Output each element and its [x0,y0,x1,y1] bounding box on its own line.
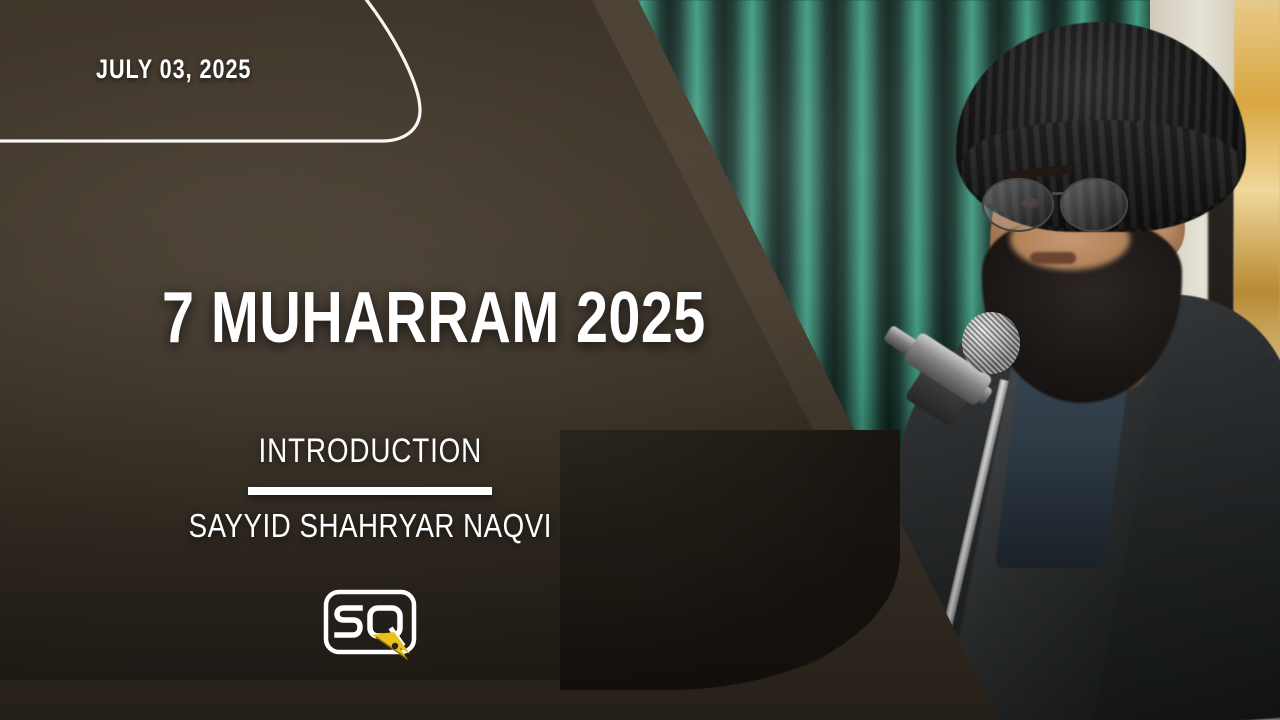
speaker-name: SAYYID SHAHRYAR NAQVI [188,507,551,545]
speaker-row: SAYYID SHAHRYAR NAQVI [0,507,740,545]
glasses-icon [982,178,1142,236]
sq-monogram-icon [322,588,418,666]
microphone-icon [962,312,1020,374]
logo-letter-s [337,608,360,635]
subtitle-row: INTRODUCTION [0,432,740,471]
subtitle-label: INTRODUCTION [258,432,482,471]
lips [1030,252,1076,264]
subtitle-block: INTRODUCTION SAYYID SHAHRYAR NAQVI [0,432,740,545]
pen-nib-icon [372,632,410,660]
divider-rule [248,487,492,495]
page-title: 7 MUHARRAM 2025 [162,277,706,359]
pen-nib-vent [392,643,398,649]
glasses-lens-left [982,178,1054,232]
title-card: JULY 03, 2025 7 MUHARRAM 2025 INTRODUCTI… [0,0,1280,720]
glasses-lens-right [1060,178,1128,232]
brand-logo [322,588,418,666]
date-label: JULY 03, 2025 [96,54,251,85]
